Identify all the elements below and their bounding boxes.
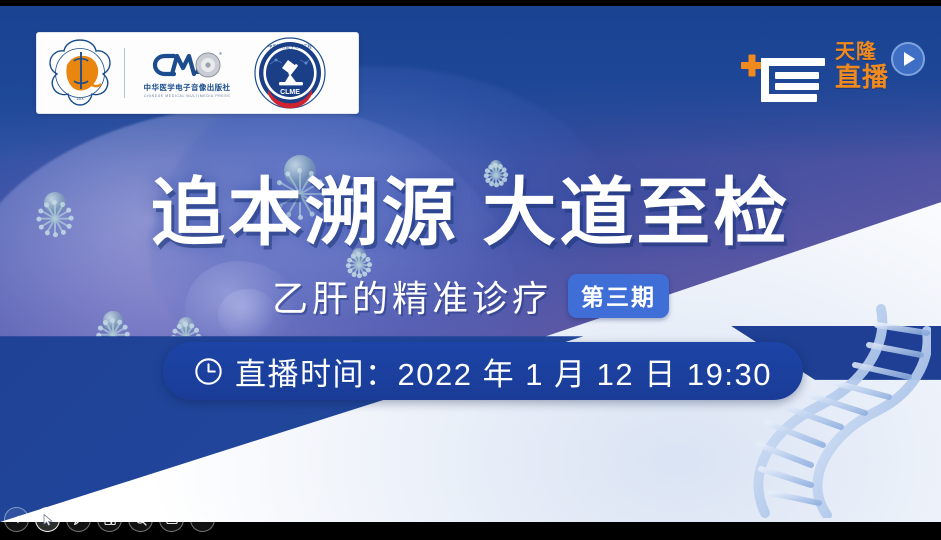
layout-icon	[103, 513, 117, 527]
brand-line2: 直播	[835, 64, 889, 91]
pen-button[interactable]	[66, 507, 91, 532]
page-title: 追本溯源 大道至检	[0, 176, 941, 250]
notes-button[interactable]	[159, 507, 184, 532]
pointer-button[interactable]	[35, 507, 60, 532]
broadcast-time-banner: 直播时间：2022 年 1 月 12 日 19:30	[163, 342, 803, 400]
logo-cmmp: ® 中华医学电子音像出版社 CHINESE MEDICAL MULTIMEDIA…	[132, 49, 242, 98]
ellipsis-icon	[196, 513, 210, 527]
logo-clme-abbr: CLME	[280, 89, 300, 96]
logo-cmmp-registered: ®	[219, 51, 222, 56]
subtitle-icon	[165, 513, 179, 527]
pen-icon	[72, 513, 86, 527]
brand-text-block: 天隆 直播	[835, 42, 889, 91]
play-triangle-icon	[904, 52, 915, 66]
layout-button[interactable]	[97, 507, 122, 532]
page-subtitle: 乙肝的精准诊疗	[272, 270, 552, 322]
back-arrow-icon	[10, 513, 23, 526]
episode-badge: 第三期	[568, 274, 669, 318]
dna-helix-icon	[731, 303, 931, 518]
presentation-screen: 1915 ® 中华医学电子音像出版社 CHI	[0, 0, 941, 540]
clock-icon	[194, 357, 223, 386]
logo-cma-year: 1915	[77, 97, 84, 101]
slide-canvas: 1915 ® 中华医学电子音像出版社 CHI	[0, 6, 941, 522]
top-letterbox-bar	[0, 0, 941, 6]
brand-line1: 天隆	[835, 42, 889, 62]
clme-logo: CLME 中华检验医学培训工程	[252, 36, 328, 110]
play-circle-icon[interactable]	[891, 42, 925, 76]
zoom-button[interactable]	[128, 507, 153, 532]
logo-cma: 1915	[43, 37, 117, 109]
more-button[interactable]	[190, 507, 215, 532]
logo-cmmp-cn-text: 中华医学电子音像出版社	[144, 82, 231, 93]
cma-wordmark-icon: ®	[152, 49, 222, 79]
chinese-medical-association-logo: 1915	[43, 37, 117, 109]
logo-clme-cn-text: 中华检验医学培训工程	[268, 43, 313, 50]
logo-clme: CLME 中华检验医学培训工程	[242, 36, 328, 110]
broadcast-time-text: 直播时间：2022 年 1 月 12 日 19:30	[235, 349, 772, 394]
sponsor-logo-panel: 1915 ® 中华医学电子音像出版社 CHI	[36, 32, 359, 114]
presentation-toolbar	[4, 507, 215, 532]
cursor-icon	[41, 513, 55, 527]
logo-divider	[124, 48, 125, 98]
subtitle-row: 乙肝的精准诊疗 第三期	[0, 270, 941, 322]
back-button[interactable]	[4, 507, 29, 532]
logo-cmmp-en-text: CHINESE MEDICAL MULTIMEDIA PRESS	[144, 94, 230, 98]
tianlong-live-brand: 天隆 直播	[723, 40, 923, 110]
magnifier-icon	[134, 513, 148, 527]
yi-character-logo	[739, 50, 831, 106]
